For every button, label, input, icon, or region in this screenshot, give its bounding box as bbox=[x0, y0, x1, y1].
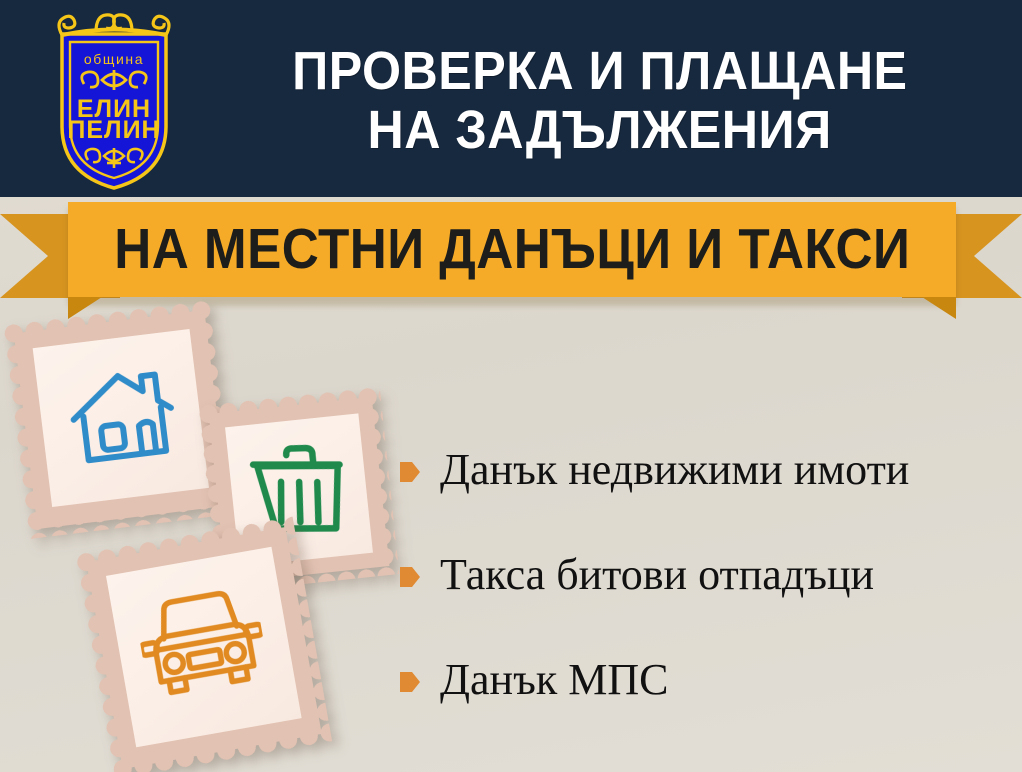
list-item[interactable]: Данък МПС bbox=[398, 628, 1018, 733]
list-item-label: Такса битови отпадъци bbox=[440, 551, 874, 599]
svg-text:ПЕЛИН: ПЕЛИН bbox=[67, 116, 160, 144]
list-item-label: Данък МПС bbox=[440, 656, 668, 704]
house-icon bbox=[62, 359, 183, 472]
ribbon-fold-right bbox=[922, 297, 956, 319]
tax-type-list: Данък недвижими имоти Такса битови отпад… bbox=[398, 418, 1018, 733]
title-line-2: НА ЗАДЪЛЖЕНИЯ bbox=[368, 101, 832, 159]
municipality-crest-logo: община ЕЛИН ПЕЛИН bbox=[44, 8, 184, 190]
poster-canvas: община ЕЛИН ПЕЛИН bbox=[0, 0, 1022, 772]
car-icon bbox=[133, 582, 272, 710]
ribbon-banner: НА МЕСТНИ ДАНЪЦИ И ТАКСИ bbox=[68, 202, 956, 297]
arrow-bullet-icon bbox=[398, 459, 422, 485]
arrow-bullet-icon bbox=[398, 669, 422, 695]
crest-icon: община ЕЛИН ПЕЛИН bbox=[44, 8, 184, 190]
ribbon-label: НА МЕСТНИ ДАНЪЦИ И ТАКСИ bbox=[114, 221, 910, 278]
poster-title: ПРОВЕРКА И ПЛАЩАНЕ НА ЗАДЪЛЖЕНИЯ bbox=[190, 18, 1010, 183]
subtitle-ribbon: НА МЕСТНИ ДАНЪЦИ И ТАКСИ bbox=[0, 196, 1022, 311]
list-item[interactable]: Данък недвижими имоти bbox=[398, 418, 1018, 523]
header-band: община ЕЛИН ПЕЛИН bbox=[0, 0, 1022, 197]
title-line-1: ПРОВЕРКА И ПЛАЩАНЕ bbox=[292, 42, 907, 100]
svg-text:община: община bbox=[84, 51, 144, 67]
list-item[interactable]: Такса битови отпадъци bbox=[398, 523, 1018, 628]
list-item-label: Данък недвижими имоти bbox=[440, 446, 909, 494]
stamp-card-vehicle bbox=[76, 517, 332, 772]
arrow-bullet-icon bbox=[398, 564, 422, 590]
